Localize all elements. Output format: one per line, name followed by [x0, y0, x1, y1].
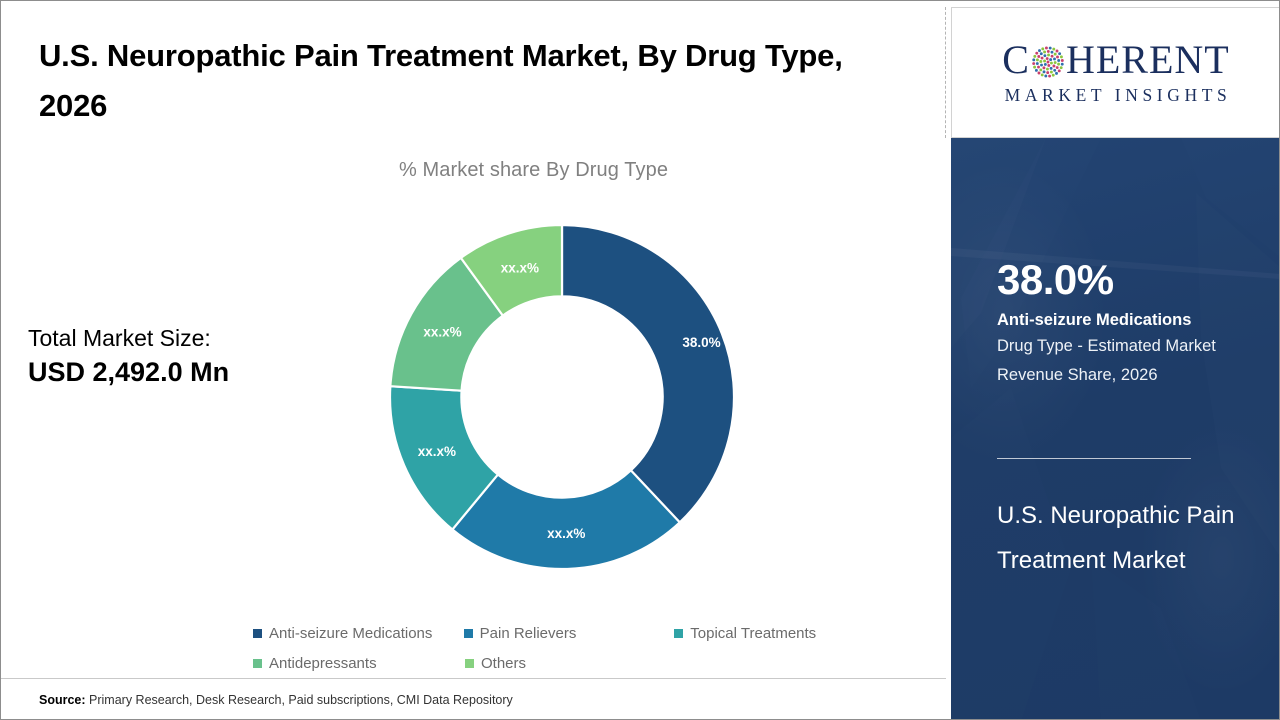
source-label: Source: — [39, 693, 86, 707]
legend-swatch-icon — [253, 629, 262, 638]
legend-label: Topical Treatments — [690, 625, 816, 642]
legend-swatch-icon — [674, 629, 683, 638]
legend-label: Pain Relievers — [480, 625, 577, 642]
stat-divider — [997, 458, 1191, 459]
legend-item-others[interactable]: Others — [465, 655, 665, 672]
legend-item-antidepressants[interactable]: Antidepressants — [253, 655, 465, 672]
highlight-panel: 38.0% Anti-seizure Medications Drug Type… — [951, 138, 1280, 720]
legend-swatch-icon — [465, 659, 474, 668]
stat-category: Anti-seizure Medications — [997, 310, 1259, 331]
legend-label: Anti-seizure Medications — [269, 625, 432, 642]
legend-item-topical-treatments[interactable]: Topical Treatments — [674, 625, 873, 642]
legend-row-2: Antidepressants Others — [253, 648, 873, 678]
legend-label: Others — [481, 655, 526, 672]
logo-tagline: MARKET INSIGHTS — [1001, 85, 1232, 106]
donut-slice-group — [390, 225, 734, 569]
donut-slice[interactable] — [562, 225, 734, 522]
logo-letter-c: C — [1002, 40, 1030, 80]
logo-letters-herent: HERENT — [1066, 40, 1230, 80]
donut-slice-label: xx.x% — [501, 260, 539, 275]
donut-slice-label: xx.x% — [547, 526, 585, 541]
brand-panel: C HERENT MARKET INSIGHTS — [951, 1, 1280, 720]
logo-wordmark: C HERENT — [1002, 40, 1229, 80]
legend-swatch-icon — [464, 629, 473, 638]
total-market-size-block: Total Market Size: USD 2,492.0 Mn — [28, 324, 388, 391]
legend-item-anti-seizure-medications[interactable]: Anti-seizure Medications — [253, 625, 464, 642]
panel-divider — [945, 7, 946, 138]
title-block: U.S. Neuropathic Pain Treatment Market, … — [39, 31, 869, 131]
panel-texture — [951, 138, 1280, 720]
donut-slice-label: 38.0% — [682, 335, 720, 350]
chart-subtitle-row: % Market share By Drug Type — [1, 159, 946, 182]
legend-row-1: Anti-seizure Medications Pain Relievers … — [253, 618, 873, 648]
total-market-value: USD 2,492.0 Mn — [28, 355, 388, 391]
stat-description: Drug Type - Estimated Market Revenue Sha… — [997, 332, 1237, 391]
chart-panel: U.S. Neuropathic Pain Treatment Market, … — [1, 1, 946, 720]
panel-market-name: U.S. Neuropathic Pain Treatment Market — [997, 493, 1247, 583]
legend-swatch-icon — [253, 659, 262, 668]
chart-subtitle: % Market share By Drug Type — [399, 159, 668, 182]
legend-item-pain-relievers[interactable]: Pain Relievers — [464, 625, 675, 642]
donut-chart-svg: 38.0%xx.x%xx.x%xx.x%xx.x% — [386, 221, 738, 573]
source-text: Primary Research, Desk Research, Paid su… — [86, 693, 513, 707]
chart-legend: Anti-seizure Medications Pain Relievers … — [253, 618, 873, 678]
source-line: Source: Primary Research, Desk Research,… — [39, 693, 513, 707]
donut-slice-label: xx.x% — [418, 444, 456, 459]
donut-slice-label: xx.x% — [423, 324, 461, 339]
globe-dots-icon — [1031, 45, 1065, 79]
donut-chart: 38.0%xx.x%xx.x%xx.x%xx.x% — [386, 221, 738, 573]
stat-percentage: 38.0% — [997, 258, 1259, 302]
legend-label: Antidepressants — [269, 655, 377, 672]
source-divider — [1, 678, 946, 679]
logo-box[interactable]: C HERENT MARKET INSIGHTS — [951, 7, 1280, 138]
total-market-label: Total Market Size: — [28, 324, 388, 353]
infographic-root: U.S. Neuropathic Pain Treatment Market, … — [0, 0, 1280, 720]
stat-block: 38.0% Anti-seizure Medications Drug Type… — [997, 258, 1259, 390]
page-title: U.S. Neuropathic Pain Treatment Market, … — [39, 31, 869, 131]
